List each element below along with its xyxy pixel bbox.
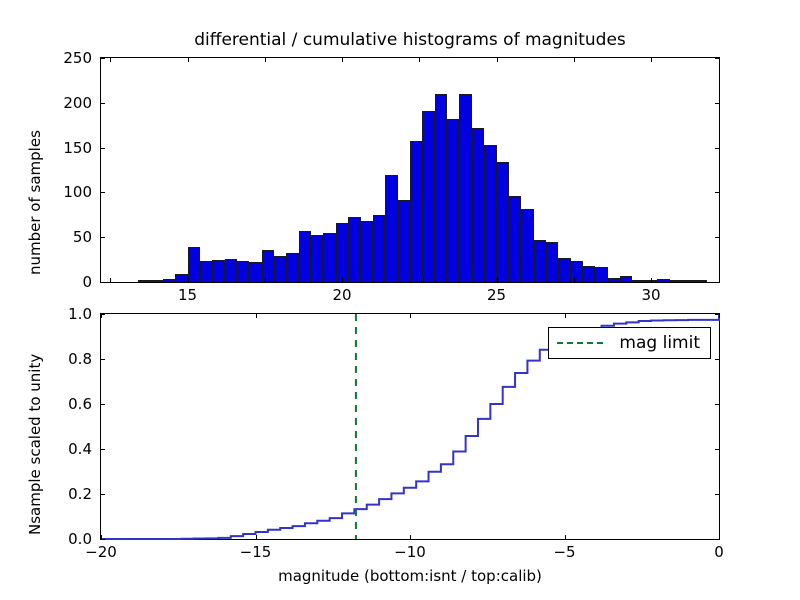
histogram-bar xyxy=(274,256,286,282)
bottom-ytick-label: 0.2 xyxy=(68,485,92,503)
histogram-bar xyxy=(212,260,224,282)
top-ytick-mark xyxy=(101,103,105,104)
histogram-bar xyxy=(225,259,237,282)
histogram-bar xyxy=(336,223,348,282)
legend-box[interactable]: mag limit xyxy=(548,327,711,359)
chart-title: differential / cumulative histograms of … xyxy=(100,30,720,50)
top-xtick-mark xyxy=(651,278,652,282)
bottom-ytick-mark xyxy=(101,404,105,405)
bottom-xtick-mark xyxy=(256,314,257,318)
histogram-bar xyxy=(410,141,422,282)
top-xtick-mark xyxy=(110,58,111,62)
histogram-bar xyxy=(286,253,298,282)
bottom-ytick-mark xyxy=(715,404,719,405)
top-ytick-mark xyxy=(715,58,719,59)
bottom-panel-ylabel: Nsample scaled to unity xyxy=(26,354,44,535)
histogram-bar xyxy=(509,196,521,282)
histogram-bar xyxy=(571,261,583,283)
histogram-bar xyxy=(299,231,311,282)
bottom-xtick-mark xyxy=(101,535,102,539)
top-xtick-label: 20 xyxy=(332,286,351,304)
bottom-xtick-mark xyxy=(565,314,566,318)
histogram-bar xyxy=(620,276,632,282)
histogram-bar xyxy=(546,242,558,282)
top-xtick-mark xyxy=(651,58,652,62)
histogram-bar xyxy=(262,250,274,282)
top-xtick-mark xyxy=(574,58,575,62)
top-xtick-mark xyxy=(342,58,343,62)
histogram-bar xyxy=(435,94,447,282)
histogram-bar xyxy=(398,200,410,282)
histogram-bar xyxy=(348,217,360,282)
histogram-bar xyxy=(188,247,200,282)
histogram-bar xyxy=(521,209,533,282)
top-xtick-mark xyxy=(188,278,189,282)
top-ytick-label: 250 xyxy=(63,49,92,67)
histogram-bar xyxy=(484,145,496,282)
histogram-bar xyxy=(150,280,162,282)
top-xtick-mark xyxy=(188,58,189,62)
top-xtick-mark xyxy=(497,278,498,282)
bottom-ytick-mark xyxy=(715,539,719,540)
top-xtick-mark xyxy=(110,278,111,282)
histogram-bar xyxy=(200,261,212,283)
top-xtick-mark xyxy=(265,278,266,282)
histogram-bar xyxy=(138,280,150,282)
top-xtick-label: 30 xyxy=(641,286,660,304)
histogram-bar xyxy=(682,280,694,282)
top-ytick-mark xyxy=(715,103,719,104)
histogram-bar xyxy=(632,280,644,282)
histogram-bar xyxy=(595,267,607,282)
bottom-panel-axes: mag limit xyxy=(100,313,720,540)
top-ytick-label: 150 xyxy=(63,139,92,157)
bottom-ytick-mark xyxy=(101,539,105,540)
bottom-ytick-label: 0.4 xyxy=(68,440,92,458)
bottom-ytick-mark xyxy=(715,449,719,450)
bottom-ytick-mark xyxy=(101,494,105,495)
top-xtick-mark xyxy=(342,278,343,282)
histogram-bar xyxy=(608,278,620,282)
bottom-xtick-label: −10 xyxy=(394,543,426,561)
bottom-xtick-mark xyxy=(256,535,257,539)
bottom-xtick-label: −15 xyxy=(240,543,272,561)
bottom-ytick-label: 0.8 xyxy=(68,350,92,368)
top-ytick-mark xyxy=(101,237,105,238)
histogram-bar xyxy=(361,221,373,282)
top-ytick-mark xyxy=(715,237,719,238)
histogram-bar xyxy=(249,262,261,282)
top-ytick-mark xyxy=(101,148,105,149)
top-ytick-mark xyxy=(101,58,105,59)
bottom-xtick-mark xyxy=(101,314,102,318)
bottom-ytick-mark xyxy=(101,449,105,450)
histogram-bar xyxy=(422,111,434,282)
bottom-ytick-mark xyxy=(715,359,719,360)
bottom-ytick-label: 1.0 xyxy=(68,305,92,323)
histogram-bar xyxy=(447,119,459,282)
top-ytick-mark xyxy=(715,192,719,193)
histogram-bar xyxy=(311,235,323,282)
histogram-bar xyxy=(657,279,669,282)
histogram-bar xyxy=(534,240,546,282)
top-xtick-mark xyxy=(265,58,266,62)
histogram-bar xyxy=(323,233,335,282)
top-xtick-label: 15 xyxy=(178,286,197,304)
bottom-xtick-label: −20 xyxy=(85,543,117,561)
bottom-xtick-mark xyxy=(719,535,720,539)
bottom-ytick-mark xyxy=(101,359,105,360)
histogram-bar xyxy=(497,162,509,282)
histogram-bar xyxy=(385,175,397,282)
top-ytick-label: 100 xyxy=(63,183,92,201)
histogram-bars xyxy=(101,58,719,282)
histogram-bar xyxy=(472,128,484,282)
bottom-xtick-mark xyxy=(565,535,566,539)
chart-xlabel: magnitude (bottom:isnt / top:calib) xyxy=(100,567,720,585)
histogram-bar xyxy=(459,94,471,282)
figure-canvas: differential / cumulative histograms of … xyxy=(0,0,800,600)
top-xtick-label: 25 xyxy=(487,286,506,304)
histogram-bar xyxy=(558,258,570,282)
top-xtick-mark xyxy=(419,58,420,62)
bottom-ytick-mark xyxy=(715,494,719,495)
top-ytick-label: 200 xyxy=(63,94,92,112)
legend-entry-label: mag limit xyxy=(619,333,700,353)
top-ytick-mark xyxy=(715,148,719,149)
bottom-xtick-label: −5 xyxy=(553,543,575,561)
top-xtick-mark xyxy=(419,278,420,282)
histogram-bar xyxy=(237,261,249,282)
bottom-xtick-mark xyxy=(410,314,411,318)
bottom-xtick-label: 0 xyxy=(714,543,724,561)
bottom-xtick-mark xyxy=(719,314,720,318)
mag-limit-legend-icon xyxy=(557,342,603,344)
top-ytick-label: 50 xyxy=(73,228,92,246)
top-ytick-mark xyxy=(101,192,105,193)
top-ytick-mark xyxy=(715,282,719,283)
top-xtick-mark xyxy=(497,58,498,62)
histogram-bar xyxy=(670,280,682,282)
top-panel-axes xyxy=(100,57,720,283)
histogram-bar xyxy=(583,266,595,282)
top-ytick-mark xyxy=(101,282,105,283)
bottom-xtick-mark xyxy=(410,535,411,539)
top-xtick-mark xyxy=(574,278,575,282)
histogram-bar xyxy=(694,280,706,282)
histogram-bar xyxy=(373,215,385,282)
histogram-bar xyxy=(175,274,187,282)
top-panel-ylabel: number of samples xyxy=(26,130,44,275)
bottom-ytick-label: 0.6 xyxy=(68,395,92,413)
top-ytick-label: 0 xyxy=(82,273,92,291)
histogram-bar xyxy=(163,279,175,282)
